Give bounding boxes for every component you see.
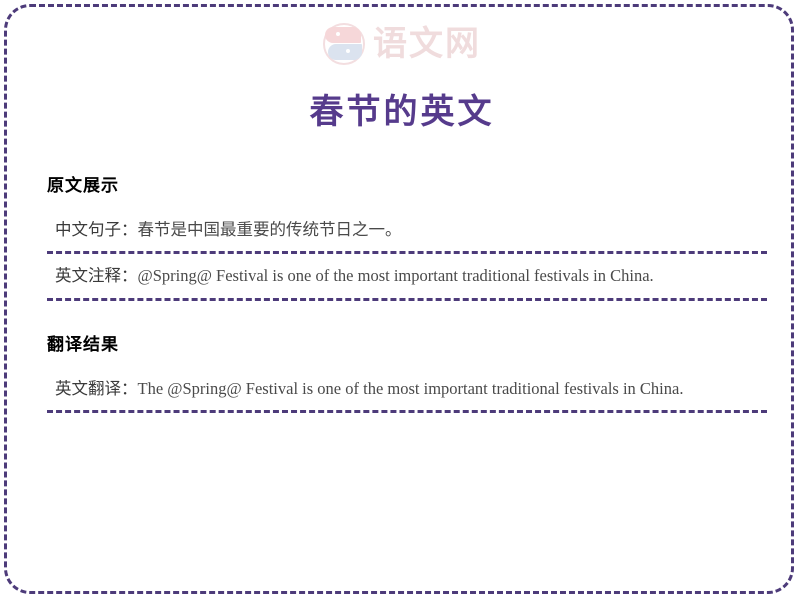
section-spacer: [47, 310, 767, 320]
dashed-separator-1: [47, 251, 767, 254]
document-content: 原文展示 中文句子：春节是中国最重要的传统节日之一。 英文注释：@Spring@…: [47, 175, 767, 422]
row-english-annotation: 英文注释：@Spring@ Festival is one of the mos…: [47, 263, 767, 298]
section-heading-result: 翻译结果: [47, 334, 767, 358]
row-value-chinese-sentence: 春节是中国最重要的传统节日之一。: [138, 220, 402, 239]
row-label-english-translation: 英文翻译：: [55, 379, 138, 398]
logo-ring: [323, 23, 365, 65]
logo-fish-top: [325, 27, 361, 43]
logo-dot-top: [336, 32, 340, 36]
logo-dot-bottom: [346, 49, 350, 53]
row-label-english-annotation: 英文注释：: [55, 266, 138, 285]
page-title: 春节的英文: [7, 93, 794, 134]
dashed-separator-2: [47, 298, 767, 301]
logo-fish-bottom: [328, 44, 362, 60]
row-english-translation: 英文翻译：The @Spring@ Festival is one of the…: [47, 376, 767, 411]
row-value-english-annotation: @Spring@ Festival is one of the most imp…: [138, 266, 654, 285]
dashed-separator-3: [47, 410, 767, 413]
row-label-chinese-sentence: 中文句子：: [55, 220, 138, 239]
row-chinese-sentence: 中文句子：春节是中国最重要的传统节日之一。: [47, 217, 767, 252]
section-heading-source: 原文展示: [47, 175, 767, 199]
yinyang-fish-logo-icon: [323, 23, 365, 65]
site-watermark: 语文网: [7, 19, 794, 69]
watermark-text: 语文网: [373, 27, 481, 61]
document-page: 语文网 春节的英文 原文展示 中文句子：春节是中国最重要的传统节日之一。 英文注…: [4, 4, 794, 594]
row-value-english-translation: The @Spring@ Festival is one of the most…: [138, 379, 684, 398]
